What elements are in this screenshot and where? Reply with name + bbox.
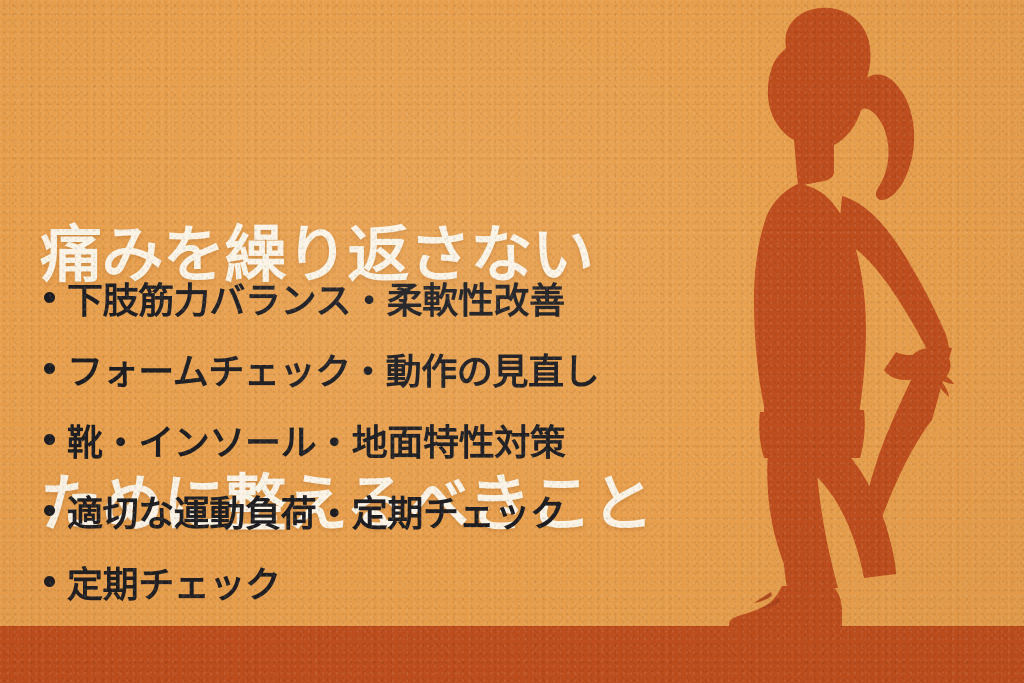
bullet-dot-icon <box>44 292 55 303</box>
runner-silhouette-illustration <box>724 0 1024 640</box>
list-item-label: フォームチェック・動作の見直し <box>67 343 599 395</box>
list-item: 適切な運動負荷・定期チェック <box>44 475 744 546</box>
bullet-dot-icon <box>44 363 55 374</box>
bullet-dot-icon <box>44 434 55 445</box>
list-item: フォームチェック・動作の見直し <box>44 333 744 404</box>
bullet-dot-icon <box>44 576 55 587</box>
list-item-label: 靴・インソール・地面特性対策 <box>67 414 565 466</box>
list-item-label: 適切な運動負荷・定期チェック <box>67 485 565 537</box>
list-item: 定期チェック <box>44 546 744 617</box>
list-item: 靴・インソール・地面特性対策 <box>44 404 744 475</box>
bullet-list: 下肢筋力バランス・柔軟性改善 フォームチェック・動作の見直し 靴・インソール・地… <box>44 262 744 617</box>
list-item: 下肢筋力バランス・柔軟性改善 <box>44 262 744 333</box>
list-item-label: 下肢筋力バランス・柔軟性改善 <box>67 272 565 324</box>
poster-canvas: 痛みを繰り返さない ために整えるべきこと 下肢筋力バランス・柔軟性改善 フォーム… <box>0 0 1024 683</box>
bullet-dot-icon <box>44 505 55 516</box>
list-item-label: 定期チェック <box>67 556 281 608</box>
bottom-color-band <box>0 626 1024 683</box>
